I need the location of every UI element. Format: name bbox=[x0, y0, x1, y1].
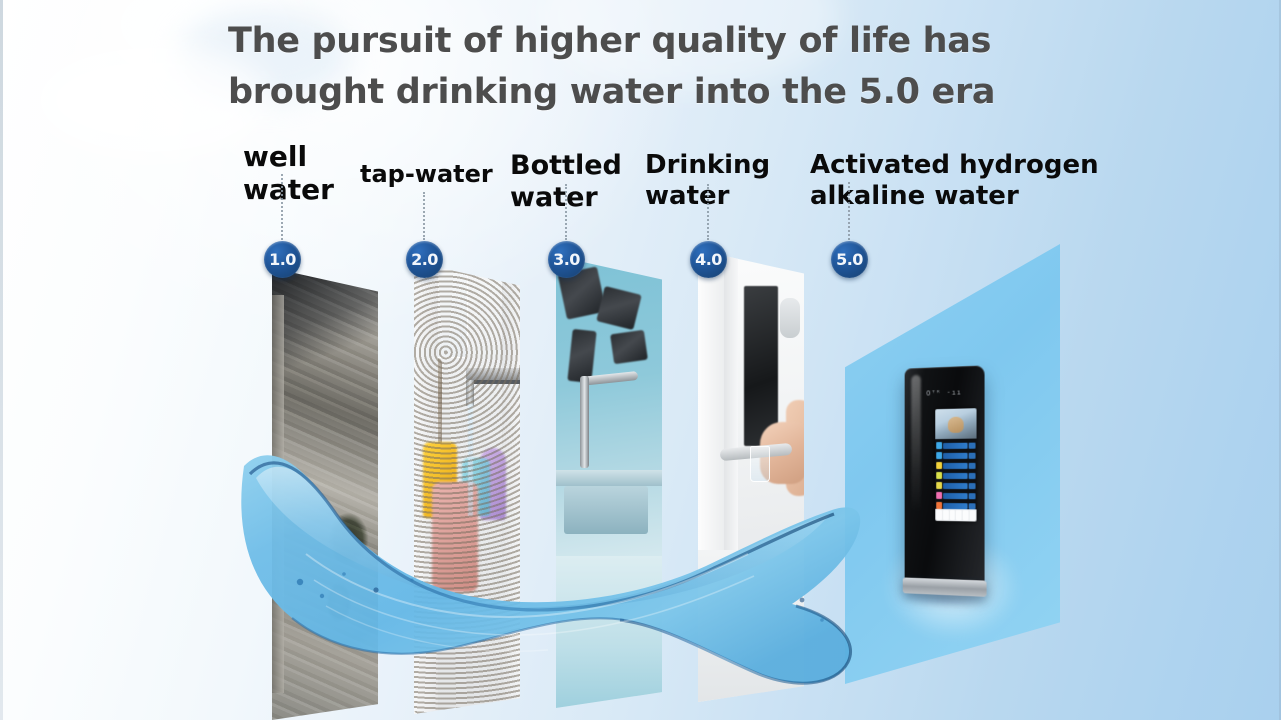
sink-basin bbox=[564, 486, 648, 534]
water-cup bbox=[750, 446, 770, 482]
dispenser-base bbox=[698, 550, 804, 702]
stage-badge-2[interactable]: 2.0 bbox=[406, 241, 443, 278]
tap-water-photo bbox=[414, 262, 520, 714]
water-droplet bbox=[410, 578, 413, 581]
keypad-key[interactable] bbox=[936, 510, 942, 520]
stage-badge-3[interactable]: 3.0 bbox=[548, 241, 585, 278]
stage-label-drinking-water: Drinking water bbox=[645, 150, 790, 211]
scale-deposit bbox=[414, 358, 442, 462]
screen-row bbox=[935, 471, 976, 480]
bottled-water-photo bbox=[556, 256, 662, 708]
counter-top bbox=[556, 470, 662, 486]
bottle-shape bbox=[610, 330, 648, 364]
stage-panel-drinking-water bbox=[698, 250, 804, 702]
screen-row bbox=[935, 441, 976, 451]
screen-photo-thumbnail bbox=[935, 408, 976, 439]
connector-line-1 bbox=[281, 174, 283, 240]
screen-row bbox=[935, 481, 976, 490]
slide-canvas: The pursuit of higher quality of life ha… bbox=[0, 0, 1281, 720]
title-line-1: The pursuit of higher quality of life ha… bbox=[228, 16, 1108, 67]
lower-cabinet bbox=[556, 556, 662, 708]
device-screen[interactable] bbox=[935, 408, 976, 521]
stage-badge-4[interactable]: 4.0 bbox=[690, 241, 727, 278]
faucet-column bbox=[580, 376, 589, 468]
drinking-water-photo bbox=[698, 250, 804, 702]
stage-label-activated-hydrogen-alkaline-water: Activated hydrogen alkaline water bbox=[810, 150, 1140, 211]
connector-line-5 bbox=[848, 182, 850, 240]
title-line-2: brought drinking water into the 5.0 era bbox=[228, 67, 1108, 118]
connector-line-2 bbox=[423, 192, 425, 240]
screen-row bbox=[935, 491, 976, 500]
left-edge-divider bbox=[0, 0, 3, 720]
photo-texture-overlay bbox=[272, 268, 378, 720]
screen-keypad[interactable] bbox=[935, 509, 976, 522]
bottle-shape bbox=[596, 286, 642, 330]
stage-panel-bottled-water bbox=[556, 256, 662, 708]
water-droplet bbox=[820, 618, 824, 622]
stage-badge-1[interactable]: 1.0 bbox=[264, 241, 301, 278]
pipe-rim bbox=[272, 295, 284, 693]
screen-row bbox=[935, 461, 976, 470]
stage-panel-well-water bbox=[272, 268, 378, 720]
stage-label-well-water: well water bbox=[243, 140, 363, 206]
water-ionizer-device: Oᵀᴿ ·ıı bbox=[905, 365, 985, 586]
dispenser-recess bbox=[744, 286, 778, 446]
keypad-key[interactable] bbox=[970, 510, 976, 520]
wave-streak bbox=[314, 576, 754, 635]
connector-line-4 bbox=[707, 184, 709, 240]
stage-panel-tap-water bbox=[414, 262, 520, 714]
keypad-key[interactable] bbox=[956, 510, 962, 520]
connector-line-3 bbox=[565, 184, 567, 240]
screen-row bbox=[935, 451, 976, 460]
stage-label-tap-water: tap-water bbox=[360, 160, 500, 188]
keypad-key[interactable] bbox=[963, 510, 969, 520]
slide-title: The pursuit of higher quality of life ha… bbox=[228, 16, 1108, 119]
stage-label-bottled-water: Bottled water bbox=[510, 150, 640, 214]
stage-badge-5[interactable]: 5.0 bbox=[831, 241, 868, 278]
control-pad bbox=[780, 298, 800, 338]
